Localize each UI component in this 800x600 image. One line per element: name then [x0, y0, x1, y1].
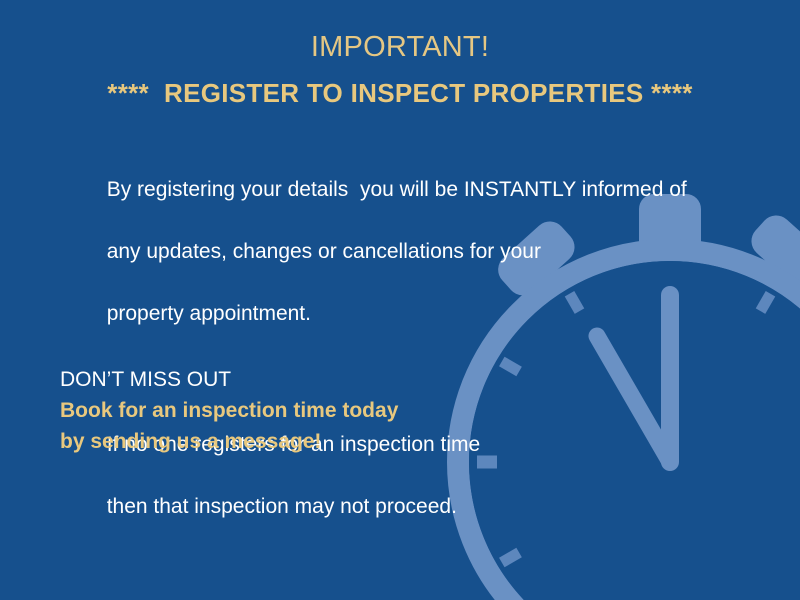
cta-book-inspection: Book for an inspection time today [60, 395, 680, 426]
promo-poster: IMPORTANT! **** REGISTER TO INSPECT PROP… [0, 0, 800, 600]
poster-text-layer: IMPORTANT! **** REGISTER TO INSPECT PROP… [0, 0, 800, 600]
cta-send-message: by sending us a message! [60, 426, 680, 457]
poster-heading: IMPORTANT! **** REGISTER TO INSPECT PROP… [0, 28, 800, 112]
heading-important: IMPORTANT! [0, 28, 800, 66]
heading-register-to-inspect: **** REGISTER TO INSPECT PROPERTIES **** [0, 74, 800, 112]
body-p2-line2: then that inspection may not proceed. [107, 495, 457, 518]
cta-dont-miss-out: DON’T MISS OUT [60, 364, 680, 395]
poster-body: By registering your details you will be … [60, 143, 720, 553]
body-p1-line3: property appointment. [107, 302, 311, 325]
poster-call-to-action: DON’T MISS OUT Book for an inspection ti… [60, 364, 680, 457]
body-p1-line1: By registering your details you will be … [107, 178, 687, 201]
body-paragraph-1: By registering your details you will be … [60, 143, 720, 360]
body-p1-line2: any updates, changes or cancellations fo… [107, 240, 541, 263]
